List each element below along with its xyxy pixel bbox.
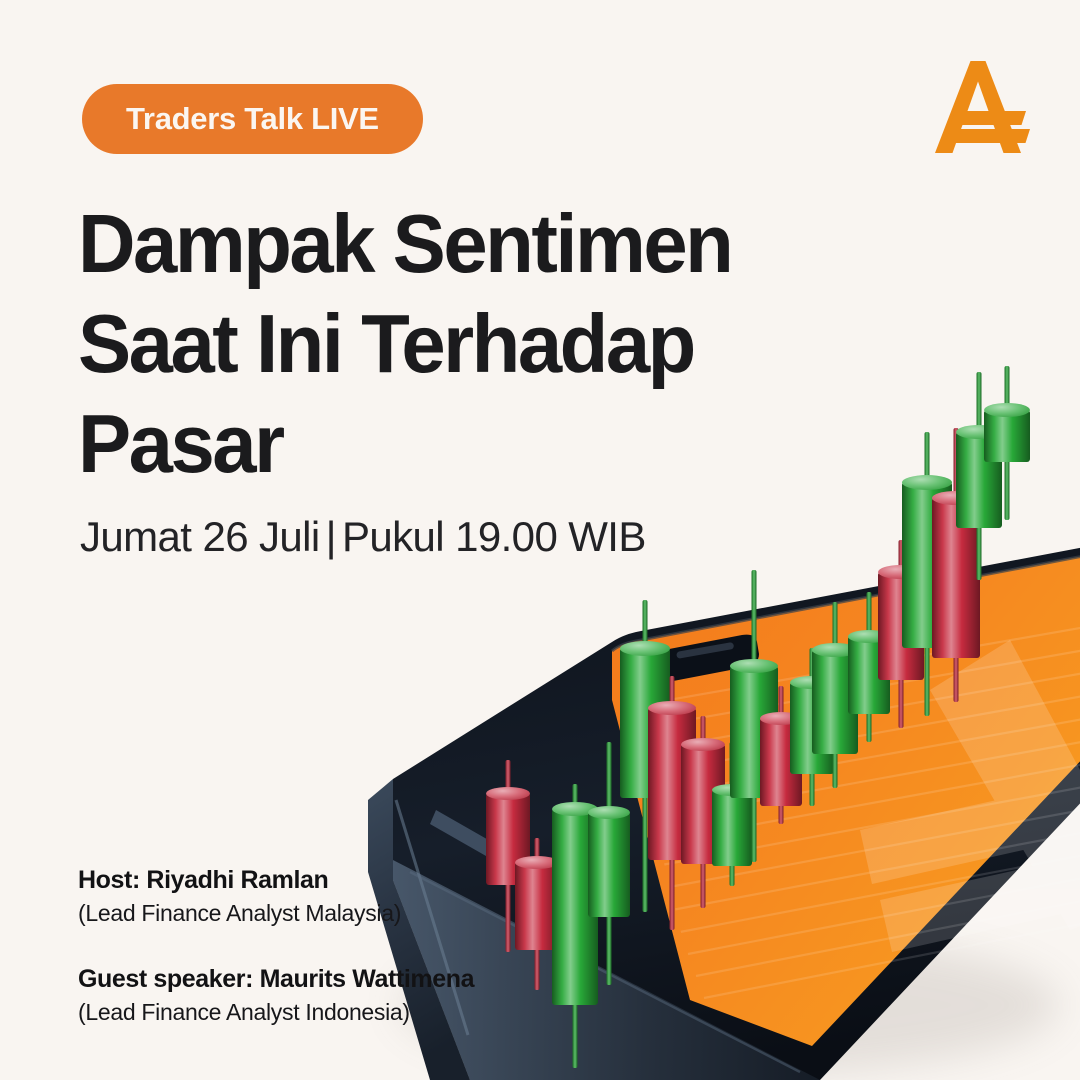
datetime-separator: | [320, 513, 342, 560]
live-badge[interactable]: Traders Talk LIVE [82, 84, 423, 154]
guest-role: (Lead Finance Analyst Indonesia) [78, 999, 474, 1026]
speaker-credits: Host: Riyadhi Ramlan (Lead Finance Analy… [78, 866, 474, 1026]
candle-body [984, 410, 1030, 462]
event-date: Jumat 26 Juli [80, 513, 320, 560]
host-role: (Lead Finance Analyst Malaysia) [78, 900, 474, 927]
guest-name: Guest speaker: Maurits Wattimena [78, 965, 474, 994]
live-badge-label: Traders Talk LIVE [126, 101, 379, 137]
poster-canvas: Traders Talk LIVE Dampak Sentimen Saat I… [0, 0, 1080, 1080]
candle-top-cap [984, 403, 1030, 417]
candle-18-up [984, 0, 1030, 1080]
host-name: Host: Riyadhi Ramlan [78, 866, 474, 895]
